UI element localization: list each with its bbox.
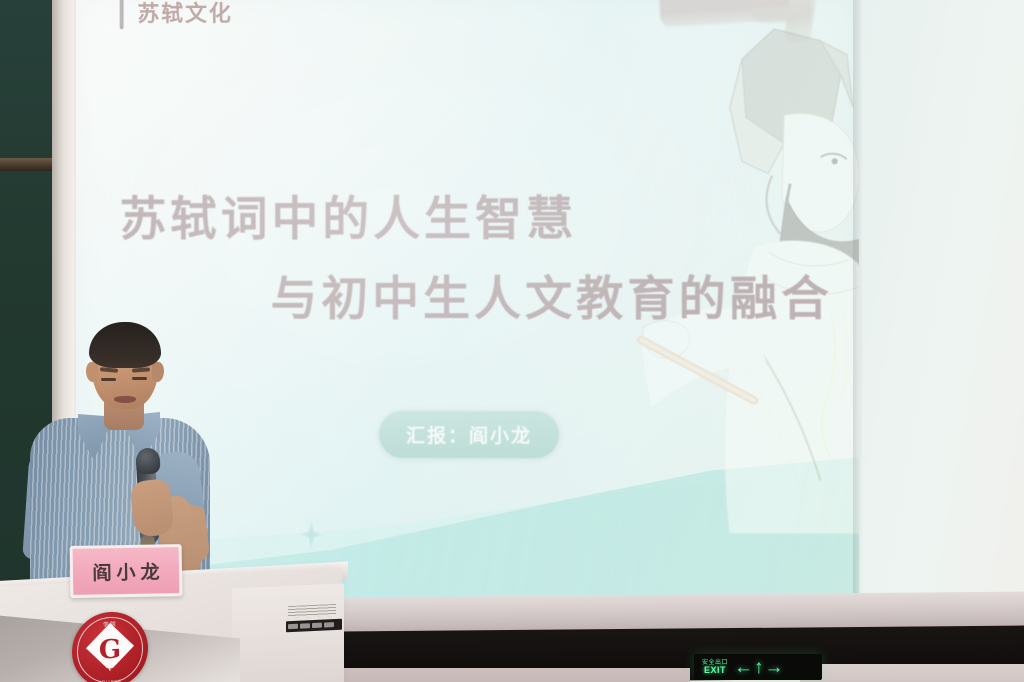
nameplate-label: 阎小龙 bbox=[87, 557, 164, 585]
exit-arrow-icon: ←↑→ bbox=[734, 658, 785, 677]
eyebrow-label: 苏轼文化 bbox=[137, 0, 232, 28]
wall-pillar bbox=[52, 0, 74, 604]
slide-eyebrow: 苏轼文化 bbox=[120, 0, 233, 29]
exit-sign: 安全出口 EXIT ←↑→ bbox=[694, 654, 822, 680]
podium-button-1[interactable] bbox=[288, 624, 298, 629]
exit-english-label: EXIT bbox=[704, 666, 726, 675]
podium-button-4[interactable] bbox=[324, 622, 334, 627]
podium-button-3[interactable] bbox=[312, 623, 322, 628]
projection-screen: 苏轼文化 苏轼词中的人生智慧 与初中生人文教育的融合 汇报：阎小龙 bbox=[76, 0, 859, 608]
lower-wall-center bbox=[340, 668, 690, 682]
podium-button-2[interactable] bbox=[300, 623, 310, 628]
slide-title-line-1: 苏轼词中的人生智慧 bbox=[120, 180, 577, 249]
exit-sign-text: 安全出口 EXIT bbox=[702, 660, 728, 675]
chalkboard-rail bbox=[0, 158, 52, 171]
screen-right-edge bbox=[853, 0, 863, 606]
right-wall bbox=[857, 0, 1024, 604]
presenter-badge: 汇报：阎小龙 bbox=[379, 411, 559, 458]
slide-title-line-2: 与初中生人文教育的融合 bbox=[271, 260, 833, 329]
speaker-nameplate: 阎小龙 bbox=[70, 544, 183, 598]
photo-scene: 苏轼文化 苏轼词中的人生智慧 与初中生人文教育的融合 汇报：阎小龙 安全出口 E… bbox=[0, 0, 1024, 682]
presenter-badge-label: 汇报：阎小龙 bbox=[406, 421, 532, 448]
school-emblem-icon: 学院 G 1958 COLLEGE bbox=[72, 610, 148, 682]
podium-printed-label bbox=[288, 604, 336, 618]
podium-side-panel bbox=[232, 583, 344, 682]
lower-wall-right bbox=[800, 664, 1024, 682]
chalkboard bbox=[0, 0, 52, 600]
eyebrow-accent-bar bbox=[120, 0, 124, 29]
